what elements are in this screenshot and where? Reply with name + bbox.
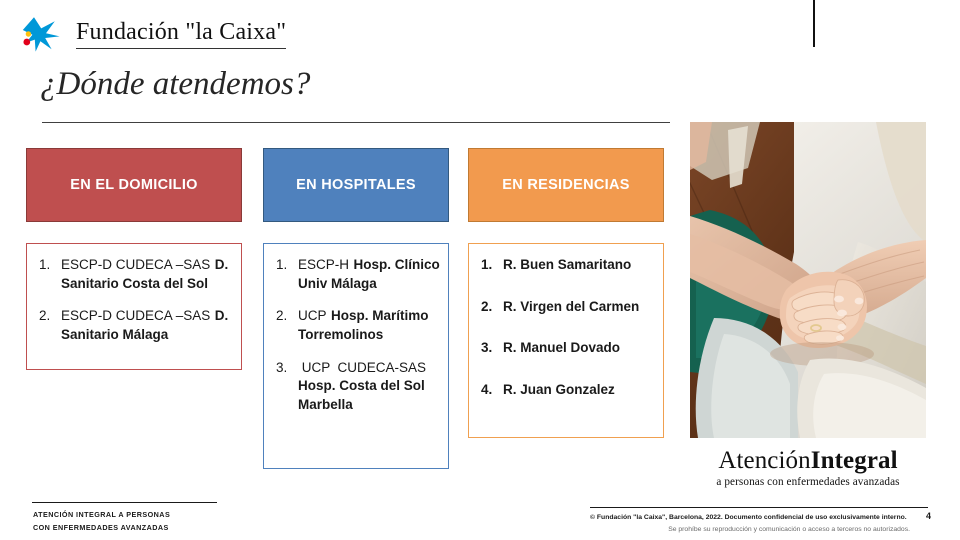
footer-programme-name: ATENCIÓN INTEGRAL A PERSONAS CON ENFERME… bbox=[33, 509, 170, 534]
list-item: 1. ESCP-H Hosp. Clínico Univ Málaga bbox=[270, 256, 440, 293]
list-item-number: 2. bbox=[475, 298, 503, 317]
footer-programme-line-1: ATENCIÓN INTEGRAL A PERSONAS bbox=[33, 509, 170, 522]
footer-programme-line-2: CON ENFERMEDADES AVANZADAS bbox=[33, 522, 170, 535]
list-item-text: ESCP-H Hosp. Clínico Univ Málaga bbox=[298, 256, 440, 293]
footer-left-divider bbox=[32, 502, 217, 503]
list-item-secondary: Hosp. Costa del Sol Marbella bbox=[298, 378, 429, 412]
column-hospitales: EN HOSPITALES 1. ESCP-H Hosp. Clínico Un… bbox=[263, 148, 449, 469]
list-item-text: R. Buen Samaritano bbox=[503, 256, 655, 275]
footer-right-divider bbox=[590, 507, 928, 508]
slide: Fundación "la Caixa" ¿Dónde atendemos? E… bbox=[0, 0, 960, 540]
list-item-text: R. Manuel Dovado bbox=[503, 339, 655, 358]
atencion-integral-tagline: a personas con enfermedades avanzadas bbox=[690, 476, 926, 488]
list-item: 3. UCP CUDECA-SAS Hosp. Costa del Sol Ma… bbox=[270, 359, 440, 415]
list-item-number: 4. bbox=[475, 381, 503, 400]
list-item-primary: ESCP-D CUDECA –SAS bbox=[61, 257, 210, 272]
copyright-line-2: Se prohíbe su reproducción y comunicació… bbox=[590, 524, 910, 536]
list-item-text: UCP Hosp. Marítimo Torremolinos bbox=[298, 307, 440, 344]
list-item-text: UCP CUDECA-SAS Hosp. Costa del Sol Marbe… bbox=[298, 359, 440, 415]
hands-photo bbox=[690, 122, 926, 438]
list-item: 2. ESCP-D CUDECA –SAS D. Sanitario Málag… bbox=[33, 307, 233, 344]
list-item-number: 2. bbox=[33, 307, 61, 326]
atencion-integral-wordmark: AtenciónIntegral bbox=[690, 448, 926, 474]
list-item: 3. R. Manuel Dovado bbox=[475, 339, 655, 358]
list-item-primary: ESCP-H bbox=[298, 257, 349, 272]
list-item-text: R. Virgen del Carmen bbox=[503, 298, 655, 317]
atencion-integral-logo: AtenciónIntegral a personas con enfermed… bbox=[690, 448, 926, 488]
wordmark-part-b: Integral bbox=[811, 447, 898, 474]
list-item-secondary: R. Juan Gonzalez bbox=[503, 382, 615, 397]
list-item-text: ESCP-D CUDECA –SAS D. Sanitario Costa de… bbox=[61, 256, 233, 293]
page-number: 4 bbox=[926, 511, 931, 521]
list-item-secondary: R. Buen Samaritano bbox=[503, 257, 631, 272]
column-header-domicilio[interactable]: EN EL DOMICILIO bbox=[26, 148, 242, 222]
list-item: 2. UCP Hosp. Marítimo Torremolinos bbox=[270, 307, 440, 344]
column-list-domicilio: 1. ESCP-D CUDECA –SAS D. Sanitario Costa… bbox=[26, 243, 242, 370]
list-item-text: R. Juan Gonzalez bbox=[503, 381, 655, 400]
list-item: 4. R. Juan Gonzalez bbox=[475, 381, 655, 400]
column-header-hospitales[interactable]: EN HOSPITALES bbox=[263, 148, 449, 222]
list-item: 1. ESCP-D CUDECA –SAS D. Sanitario Costa… bbox=[33, 256, 233, 293]
list-item-secondary: R. Virgen del Carmen bbox=[503, 299, 639, 314]
list-item-number: 3. bbox=[270, 359, 298, 378]
list-item-primary: UCP CUDECA-SAS bbox=[298, 360, 426, 375]
column-header-residencias[interactable]: EN RESIDENCIAS bbox=[468, 148, 664, 222]
list-item-primary: ESCP-D CUDECA –SAS bbox=[61, 308, 210, 323]
list-item-number: 2. bbox=[270, 307, 298, 326]
list-item-secondary: R. Manuel Dovado bbox=[503, 340, 620, 355]
column-residencias: EN RESIDENCIAS 1. R. Buen Samaritano 2. … bbox=[468, 148, 664, 438]
wordmark-part-a: Atención bbox=[718, 447, 810, 474]
list-item: 2. R. Virgen del Carmen bbox=[475, 298, 655, 317]
list-item-number: 3. bbox=[475, 339, 503, 358]
column-domicilio: EN EL DOMICILIO 1. ESCP-D CUDECA –SAS D.… bbox=[26, 148, 242, 370]
copyright-line-1: © Fundación "la Caixa", Barcelona, 2022.… bbox=[590, 512, 910, 524]
list-item-text: ESCP-D CUDECA –SAS D. Sanitario Málaga bbox=[61, 307, 233, 344]
list-item: 1. R. Buen Samaritano bbox=[475, 256, 655, 275]
list-item-number: 1. bbox=[475, 256, 503, 275]
list-item-number: 1. bbox=[270, 256, 298, 275]
list-item-primary: UCP bbox=[298, 308, 327, 323]
list-item-number: 1. bbox=[33, 256, 61, 275]
footer-copyright: © Fundación "la Caixa", Barcelona, 2022.… bbox=[590, 512, 910, 535]
column-list-residencias: 1. R. Buen Samaritano 2. R. Virgen del C… bbox=[468, 243, 664, 438]
column-list-hospitales: 1. ESCP-H Hosp. Clínico Univ Málaga 2. U… bbox=[263, 243, 449, 469]
